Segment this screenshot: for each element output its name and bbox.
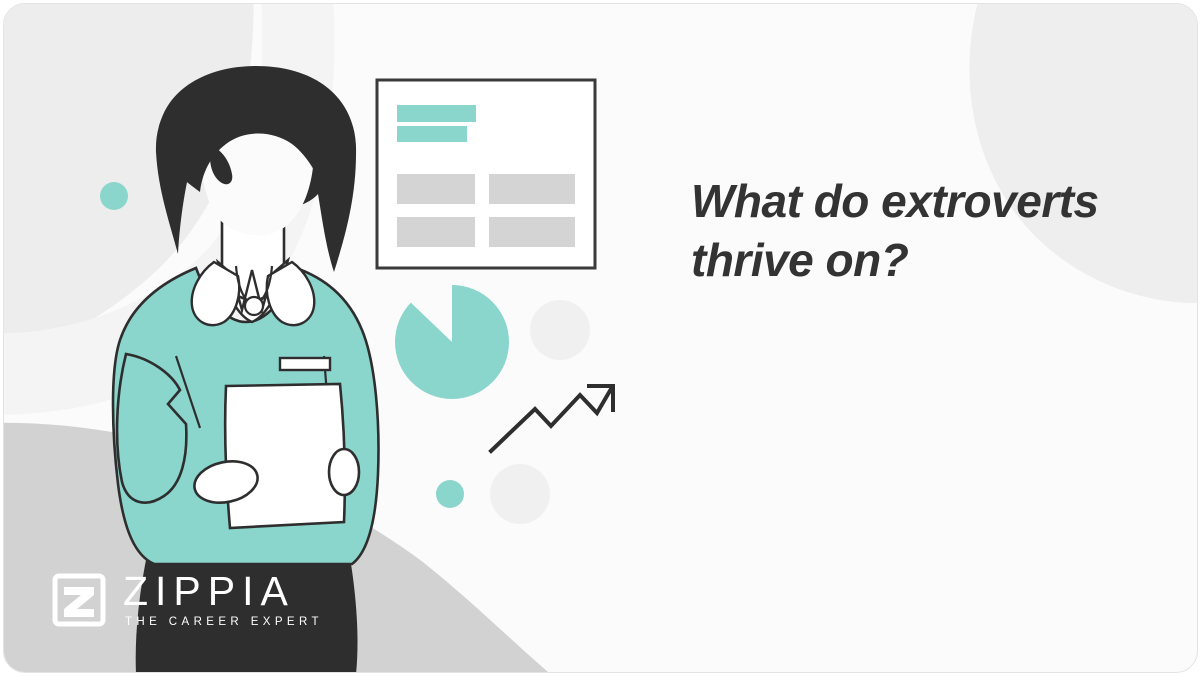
info-card: What do extroverts thrive on? ZIPPIA THE… [3,3,1198,673]
zippia-tagline: THE CAREER EXPERT [125,614,323,630]
zippia-z-mark-icon [49,570,109,630]
zippia-logo-text: ZIPPIA THE CAREER EXPERT [123,570,323,630]
zippia-wordmark: ZIPPIA [123,570,323,612]
gray-blob-bottom-left [4,423,548,672]
zippia-logo[interactable]: ZIPPIA THE CAREER EXPERT [49,570,323,630]
screenshot-root: What do extroverts thrive on? ZIPPIA THE… [0,0,1201,676]
page-title: What do extroverts thrive on? [691,172,1141,290]
